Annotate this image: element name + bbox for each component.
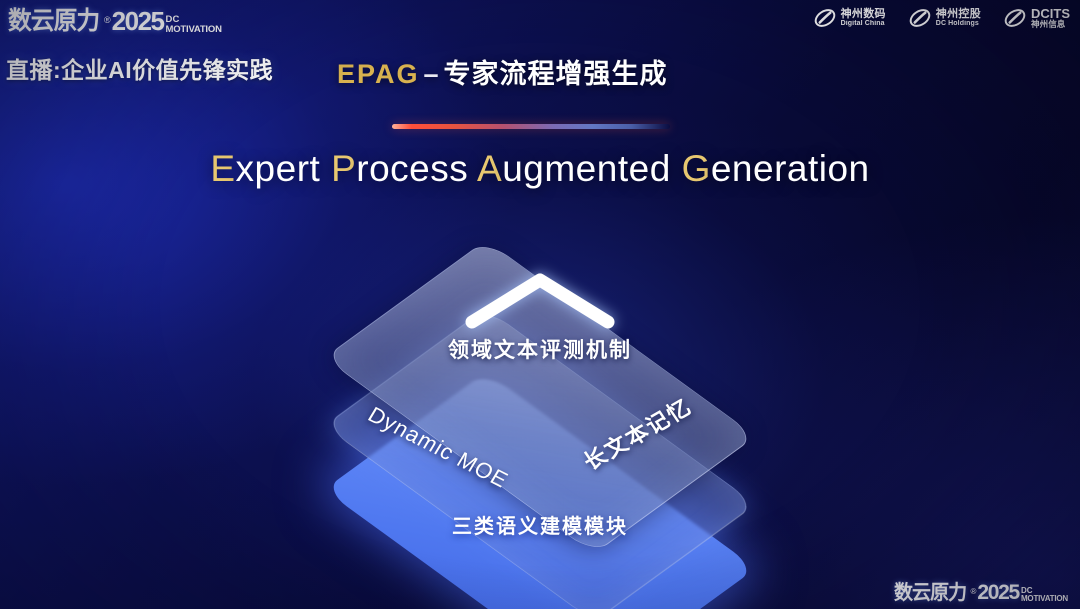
partner-name-en: DC Holdings xyxy=(936,20,981,27)
partner-logo-dc-holdings: 神州控股 DC Holdings xyxy=(908,6,981,30)
slide-canvas: 数云原力 ® 2025 DC MOTIVATION 直播:企业AI价值先锋实践 … xyxy=(0,0,1080,609)
partner-name-cn: DCITS xyxy=(1031,7,1070,21)
partner-logo-text: DCITS 神州信息 xyxy=(1031,7,1070,30)
word-rest: xpert xyxy=(236,148,321,189)
word-cap: A xyxy=(477,148,502,189)
title-word-augmented: Augmented xyxy=(477,148,671,189)
partner-name-cn: 神州控股 xyxy=(936,9,981,21)
brand-logo-registered: ® xyxy=(104,16,111,25)
brand-logo-subtext: DC MOTIVATION xyxy=(166,15,222,34)
brand-logo-year: 2025 xyxy=(112,8,164,34)
title-chinese: 专家流程增强生成 xyxy=(444,59,668,89)
word-rest: eneration xyxy=(711,148,870,189)
footer-logo-sub-line2: MOTIVATION xyxy=(1021,595,1068,603)
swirl-logo-icon xyxy=(908,6,932,30)
partner-logo-digital-china: 神州数码 Digital China xyxy=(813,6,886,30)
partner-name-cn: 神州数码 xyxy=(841,9,886,21)
word-cap: G xyxy=(682,148,711,189)
brand-logo-cn: 数云原力 xyxy=(8,9,99,34)
layer-label-top: 领域文本评测机制 xyxy=(448,334,632,364)
live-stream-label: 直播:企业AI价值先锋实践 xyxy=(6,51,273,85)
partner-name-en: Digital China xyxy=(841,20,886,27)
brand-logo-sub-line2: MOTIVATION xyxy=(166,25,222,35)
word-cap: P xyxy=(331,148,356,189)
partner-logos: 神州数码 Digital China 神州控股 DC Holdings xyxy=(813,6,1070,30)
title-acronym: EPAG xyxy=(337,59,420,89)
partner-name-en: 神州信息 xyxy=(1031,20,1070,29)
layer-label-bottom: 三类语义建模模块 xyxy=(452,510,628,539)
partner-logo-text: 神州控股 DC Holdings xyxy=(936,9,981,28)
header-brand-logo: 数云原力 ® 2025 DC MOTIVATION xyxy=(8,4,222,34)
swirl-logo-icon xyxy=(813,6,837,30)
partner-logo-dcits: DCITS 神州信息 xyxy=(1003,6,1070,30)
title-word-process: Process xyxy=(331,148,468,189)
footer-logo-registered: ® xyxy=(971,587,977,596)
english-title: Expert Process Augmented Generation xyxy=(0,148,1080,190)
page-title: EPAG–专家流程增强生成 xyxy=(337,52,668,91)
partner-logo-text: 神州数码 Digital China xyxy=(841,9,886,28)
accent-divider xyxy=(392,124,670,129)
title-dash: – xyxy=(420,59,444,89)
footer-logo-cn: 数云原力 xyxy=(894,583,966,603)
footer-brand-logo: 数云原力 ® 2025 DC MOTIVATION xyxy=(894,582,1068,603)
title-word-expert: Expert xyxy=(210,148,320,189)
footer-logo-subtext: DC MOTIVATION xyxy=(1021,587,1068,603)
word-rest: rocess xyxy=(356,148,468,189)
word-cap: E xyxy=(210,148,235,189)
title-word-generation: Generation xyxy=(682,148,870,189)
word-rest: ugmented xyxy=(502,148,671,189)
swirl-logo-icon xyxy=(1003,6,1027,30)
footer-logo-year: 2025 xyxy=(977,582,1019,603)
